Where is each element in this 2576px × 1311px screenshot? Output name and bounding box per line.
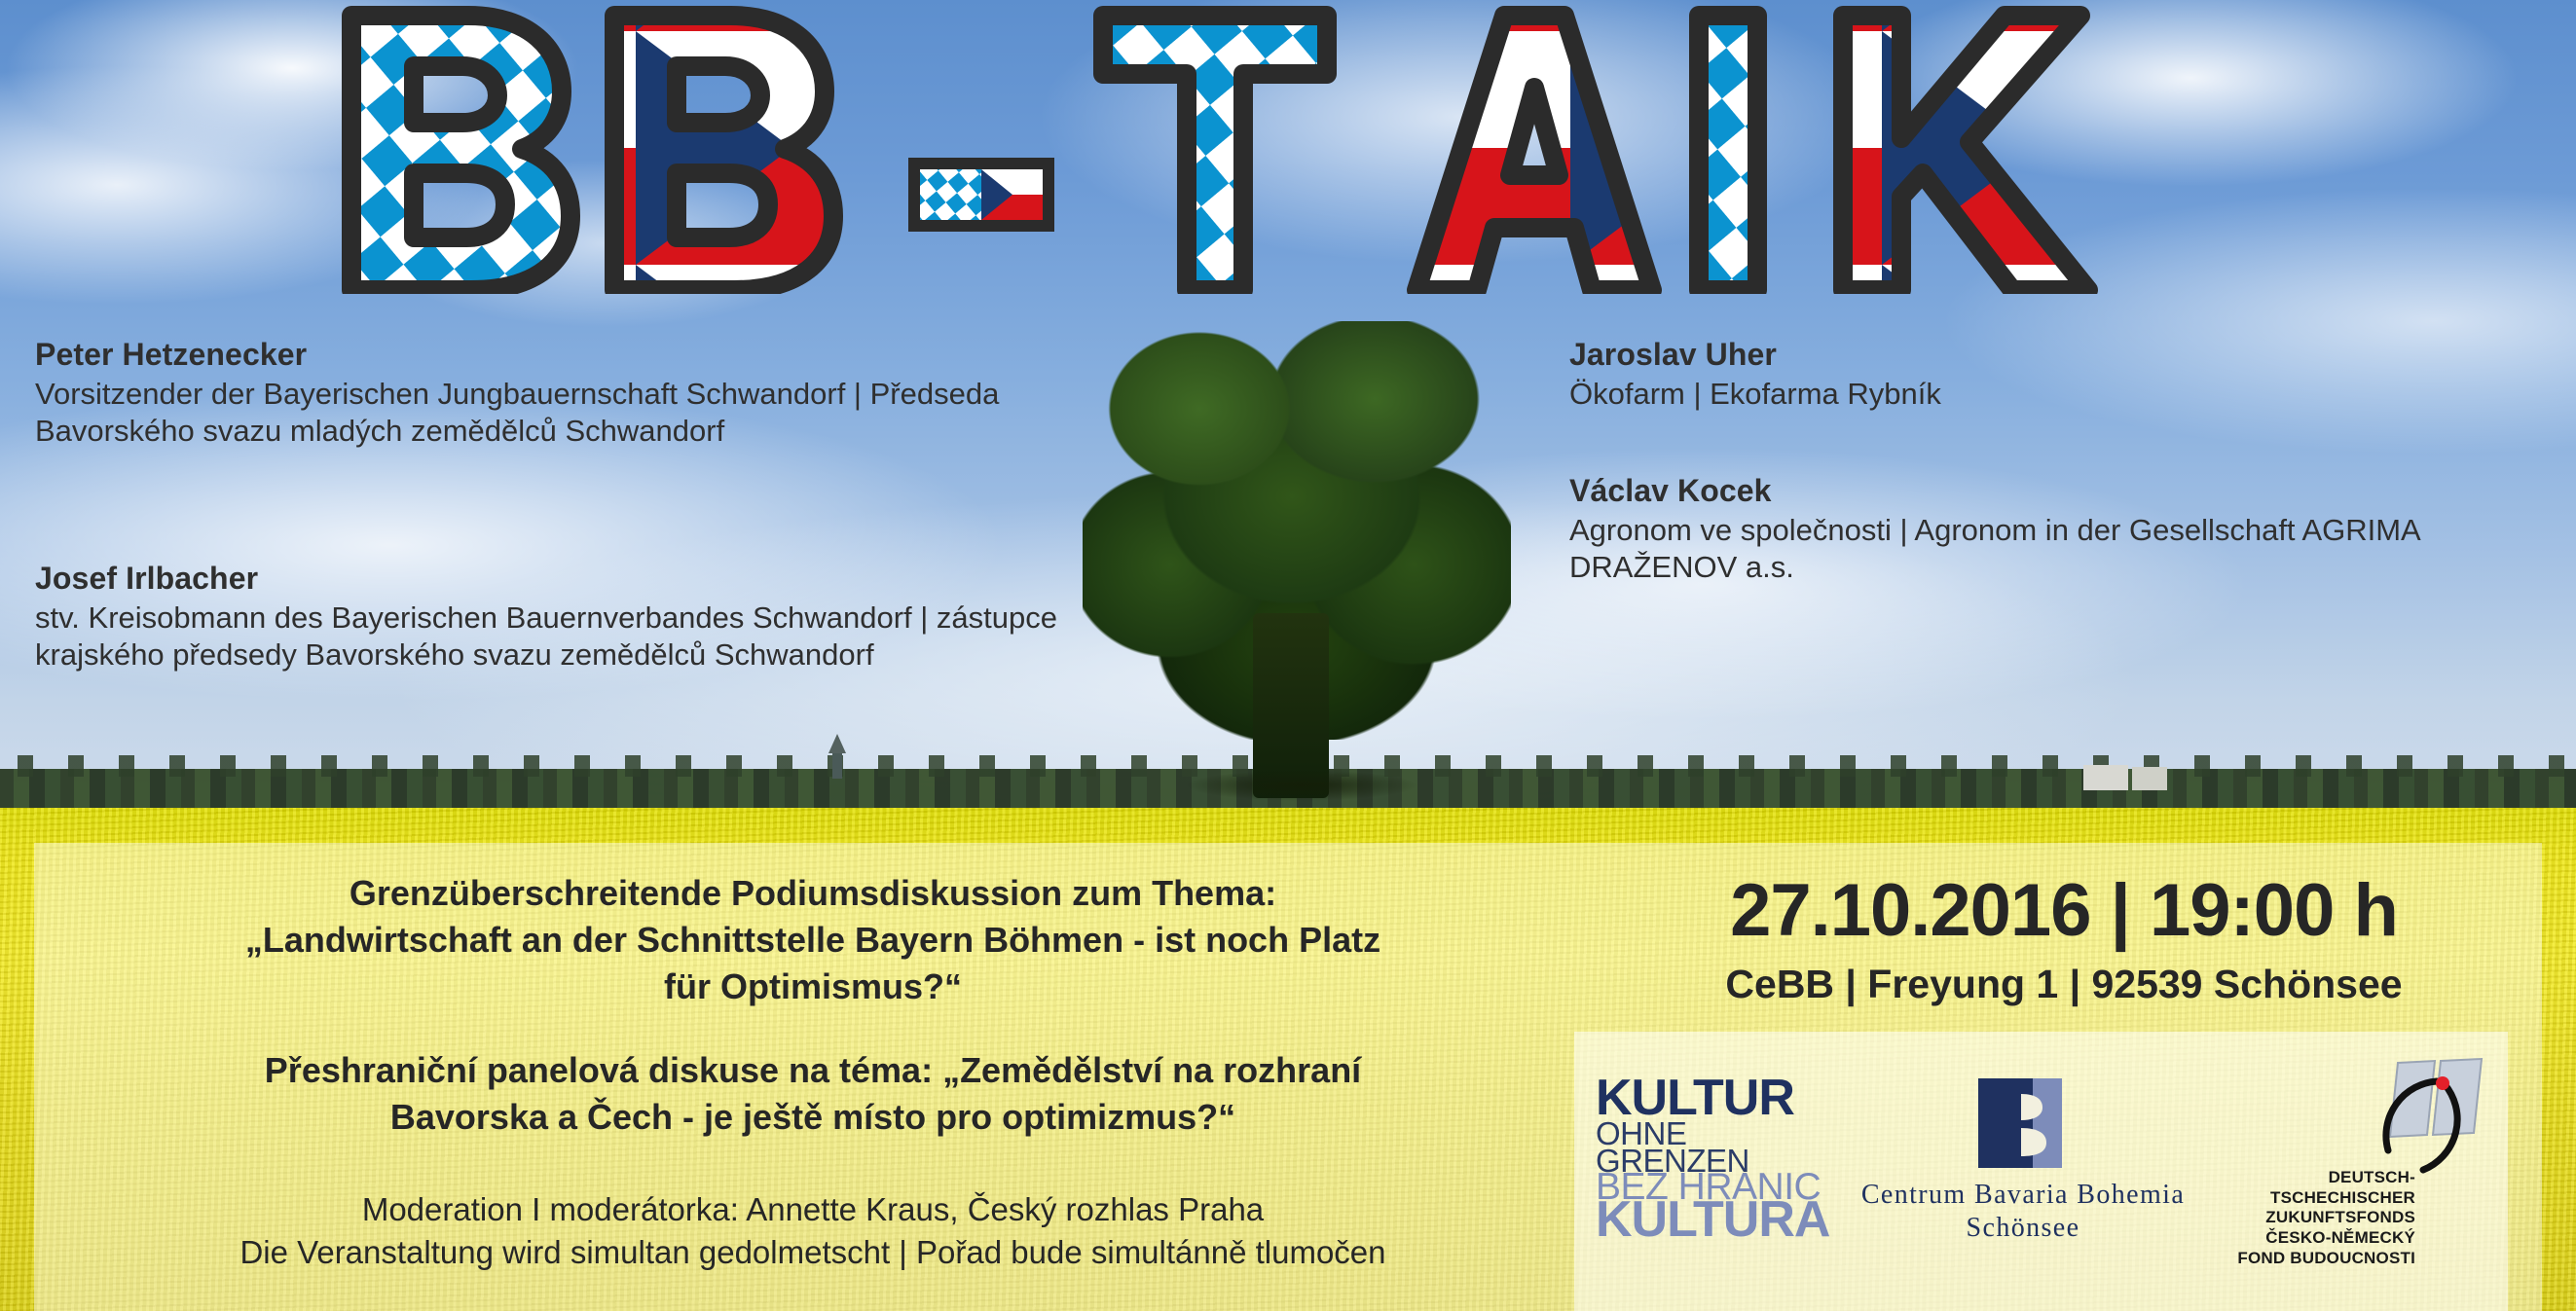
fond-line-3: ČESKO-NĚMECKÝ — [2217, 1228, 2415, 1249]
title-letter-b2 — [614, 16, 833, 290]
speaker-role: Vorsitzender der Bayerischen Jungbauerns… — [35, 376, 1067, 450]
speaker-block: Josef Irlbacher stv. Kreisobmann des Bay… — [35, 560, 1116, 674]
kultur-logo-wordmark: KULTUR OHNE GRENZEN BEZ HRANIC KULTURA — [1596, 1076, 1829, 1242]
zukunftsfonds-name: DEUTSCH-TSCHECHISCHER ZUKUNFTSFONDS ČESK… — [2217, 1168, 2415, 1269]
speaker-name: Jaroslav Uher — [1569, 336, 2543, 374]
speaker-block: Peter Hetzenecker Vorsitzender der Bayer… — [35, 336, 1067, 450]
sponsor-logo-strip: KULTUR OHNE GRENZEN BEZ HRANIC KULTURA C… — [1574, 1032, 2508, 1311]
topic-german: Grenzüberschreitende Podiumsdiskussion z… — [73, 870, 1553, 1010]
moderation-line-1: Moderation I moderátorka: Annette Kraus,… — [54, 1188, 1572, 1231]
title-letter-t — [1103, 16, 1327, 290]
speaker-name: Josef Irlbacher — [35, 560, 1116, 598]
title-letter-k — [1843, 16, 2088, 290]
cebb-name-line-1: Centrum Bavaria Bohemia — [1829, 1180, 2217, 1211]
title-letter-b1 — [351, 16, 570, 290]
event-venue: CeBB | Freyung 1 | 92539 Schönsee — [1597, 962, 2531, 1007]
topic-german-line-2: „Landwirtschaft an der Schnittstelle Bay… — [73, 917, 1553, 964]
fond-line-4: FOND BUDOUCNOSTI — [2217, 1249, 2415, 1269]
kultur-line-1: KULTUR — [1596, 1076, 1829, 1120]
bavaria-czech-flag-icon — [908, 158, 1054, 232]
moderation-line-2: Die Veranstaltung wird simultan gedolmet… — [54, 1231, 1572, 1274]
cebb-name-line-2: Schönsee — [1829, 1213, 2217, 1244]
speaker-block: Jaroslav Uher Ökofarm | Ekofarma Rybník — [1569, 336, 2543, 413]
poster-title — [0, 2, 2576, 294]
banner-topic-column: Grenzüberschreitende Podiumsdiskussion z… — [34, 843, 1587, 1311]
speaker-role: Ökofarm | Ekofarma Rybník — [1569, 376, 2543, 413]
logo-zukunftsfonds: DEUTSCH-TSCHECHISCHER ZUKUNFTSFONDS ČESK… — [2217, 1032, 2508, 1311]
topic-czech-line-2: Bavorska a Čech - je ještě místo pro opt… — [73, 1094, 1553, 1141]
fond-line-2: ZUKUNFTSFONDS — [2217, 1208, 2415, 1228]
speaker-name: Václav Kocek — [1569, 472, 2553, 510]
topic-czech-line-1: Přeshraniční panelová diskuse na téma: „… — [73, 1047, 1553, 1094]
poster-root: Peter Hetzenecker Vorsitzender der Bayer… — [0, 0, 2576, 1311]
topic-german-line-3: für Optimismus?“ — [73, 964, 1553, 1010]
event-date-time: 27.10.2016 | 19:00 h — [1597, 868, 2531, 953]
zukunftsfonds-mark-icon — [2380, 1049, 2505, 1176]
logo-kultur-ohne-grenzen: KULTUR OHNE GRENZEN BEZ HRANIC KULTURA — [1574, 1032, 1829, 1311]
fond-line-1: DEUTSCH-TSCHECHISCHER — [2217, 1168, 2415, 1208]
speaker-role: stv. Kreisobmann des Bayerischen Bauernv… — [35, 600, 1116, 674]
title-letter-a — [1417, 16, 1652, 290]
title-artwork — [324, 2, 2252, 294]
farm-silo — [2083, 765, 2128, 790]
kultur-line-4: KULTURA — [1596, 1198, 1829, 1242]
speaker-block: Václav Kocek Agronom ve společnosti | Ag… — [1569, 472, 2553, 586]
church-steeple — [832, 751, 842, 779]
topic-czech: Přeshraniční panelová diskuse na téma: „… — [73, 1047, 1553, 1141]
moderation-note: Moderation I moderátorka: Annette Kraus,… — [54, 1188, 1572, 1274]
speaker-role: Agronom ve společnosti | Agronom in der … — [1569, 512, 2553, 586]
logo-centrum-bavaria-bohemia: Centrum Bavaria Bohemia Schönsee — [1829, 1032, 2217, 1311]
solitary-tree — [1053, 321, 1540, 818]
cebb-b-mark-icon — [1978, 1078, 2068, 1168]
speaker-name: Peter Hetzenecker — [35, 336, 1067, 374]
topic-german-line-1: Grenzüberschreitende Podiumsdiskussion z… — [73, 870, 1553, 917]
tree-shadow — [1141, 764, 1462, 807]
title-letter-l — [1699, 16, 1757, 290]
